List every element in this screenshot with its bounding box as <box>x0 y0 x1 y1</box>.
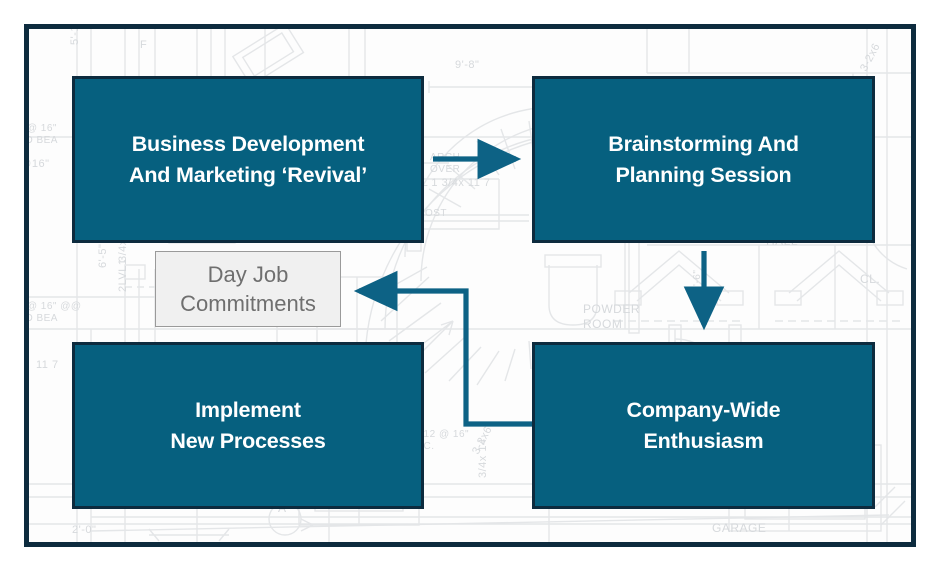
node-business-development[interactable]: Business Development And Marketing ‘Revi… <box>72 76 424 243</box>
node-company-wide-enthusiasm[interactable]: Company-Wide Enthusiasm <box>532 342 875 509</box>
node-brainstorming-planning[interactable]: Brainstorming And Planning Session <box>532 76 875 243</box>
node-implement-new-processes-label: Implement New Processes <box>160 395 335 456</box>
node-day-job-commitments-label: Day Job Commitments <box>170 260 326 318</box>
node-implement-new-processes[interactable]: Implement New Processes <box>72 342 424 509</box>
node-business-development-label: Business Development And Marketing ‘Revi… <box>119 129 377 190</box>
node-brainstorming-planning-label: Brainstorming And Planning Session <box>598 129 809 190</box>
node-day-job-commitments[interactable]: Day Job Commitments <box>155 251 341 327</box>
diagram-canvas: 5'-10"F9'-8"ROOM3-2x6x6 @ 16"OAD BEA/8@1… <box>0 0 942 575</box>
diagram-frame: 5'-10"F9'-8"ROOM3-2x6x6 @ 16"OAD BEA/8@1… <box>24 24 916 547</box>
node-company-wide-enthusiasm-label: Company-Wide Enthusiasm <box>617 395 791 456</box>
